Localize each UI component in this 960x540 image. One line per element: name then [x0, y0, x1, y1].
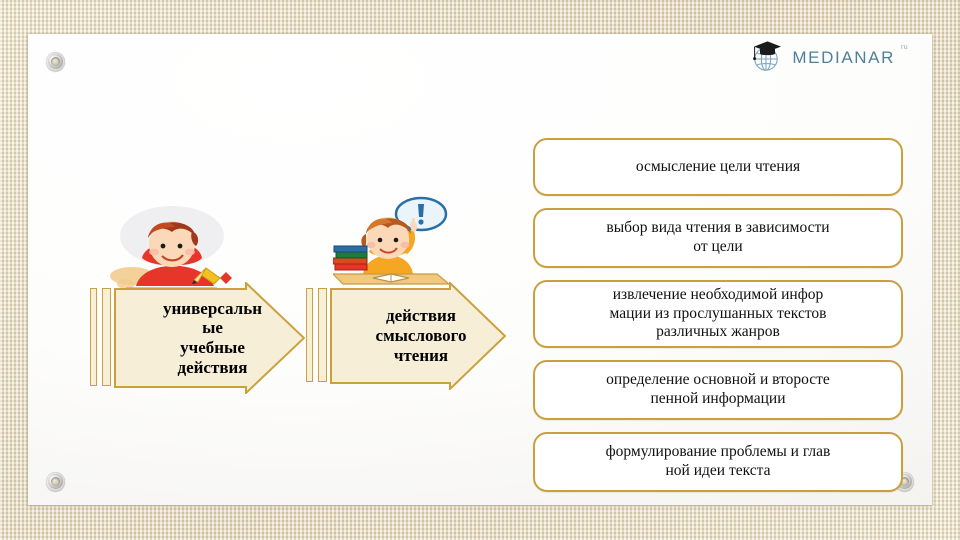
arrow-trail-bar-2 [318, 288, 327, 382]
logo-wordmark: MEDIANAR [792, 48, 895, 68]
info-box-4-text: определение основной и второсте пенной и… [606, 371, 830, 408]
info-box-4[interactable]: определение основной и второсте пенной и… [533, 360, 903, 420]
info-box-5[interactable]: формулирование проблемы и глав ной идеи … [533, 432, 903, 492]
logo-wordmark-text: MEDIANAR [792, 48, 895, 67]
info-box-3-text: извлечение необходимой инфор мации из пр… [610, 286, 827, 342]
info-box-2-text: выбор вида чтения в зависимости от цели [606, 219, 829, 256]
screw-fastener-bottom-left [46, 472, 65, 491]
book-stack [333, 246, 367, 270]
slide-panel: MEDIANAR ru [28, 34, 932, 505]
arrow-trail-bar-2 [102, 288, 111, 386]
arrow-trail-bar-1 [306, 288, 313, 382]
child-raising-hand-with-books-icon [333, 196, 449, 296]
arrow-label-semantic-reading-actions: действия смыслового чтения [370, 306, 467, 365]
info-box-2[interactable]: выбор вида чтения в зависимости от цели [533, 208, 903, 268]
info-box-3[interactable]: извлечение необходимой инфор мации из пр… [533, 280, 903, 348]
arrow-universal-learning-actions[interactable]: универсальн ые учебные действия [90, 282, 305, 394]
arrow-trail-bar-1 [90, 288, 97, 386]
info-box-1-text: осмысление цели чтения [636, 158, 800, 177]
info-box-5-text: формулирование проблемы и глав ной идеи … [606, 443, 831, 480]
screw-fastener-top-left [46, 52, 65, 71]
arrow-body: универсальн ые учебные действия [114, 282, 305, 394]
logo-superscript: ru [901, 44, 908, 51]
globe-graduation-cap-icon [746, 38, 786, 77]
info-box-column: осмысление цели чтения выбор вида чтения… [533, 138, 903, 504]
info-box-1[interactable]: осмысление цели чтения [533, 138, 903, 196]
medianar-logo[interactable]: MEDIANAR ru [746, 38, 908, 77]
arrow-body: действия смыслового чтения [330, 282, 506, 390]
arrow-semantic-reading-actions[interactable]: действия смыслового чтения [306, 282, 506, 390]
arrow-label-universal-learning-actions: универсальн ые учебные действия [157, 299, 262, 378]
